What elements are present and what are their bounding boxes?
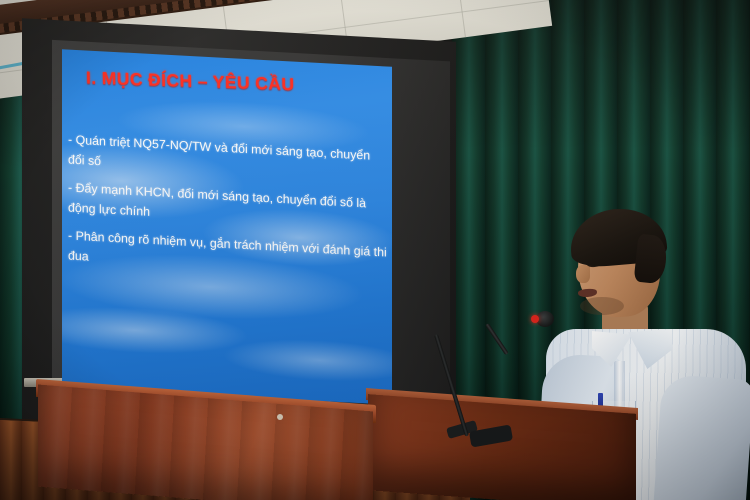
slide-title: I. MỤC ĐÍCH – YÊU CẦU	[86, 68, 376, 98]
presentation-photo-scene: I. MỤC ĐÍCH – YÊU CẦU - Quán triệt NQ57-…	[0, 0, 750, 500]
podium-right-section	[368, 394, 636, 500]
slide-bullet-3: - Phân công rõ nhiệm vụ, gắn trách nhiệm…	[68, 226, 390, 283]
speaker-right-arm	[654, 374, 750, 500]
speaker-chin-shadow	[580, 297, 624, 315]
speaker-nose	[576, 265, 590, 283]
podium-knob	[277, 414, 283, 420]
slide-body: - Quán triệt NQ57-NQ/TW và đổi mới sáng …	[68, 130, 390, 291]
slide-bullet-1: - Quán triệt NQ57-NQ/TW và đổi mới sáng …	[68, 130, 390, 187]
projected-slide: I. MỤC ĐÍCH – YÊU CẦU - Quán triệt NQ57-…	[62, 49, 392, 405]
microphone-active-led-icon	[531, 315, 539, 323]
slide-bullet-2: - Đẩy mạnh KHCN, đổi mới sáng tạo, chuyể…	[68, 178, 390, 235]
